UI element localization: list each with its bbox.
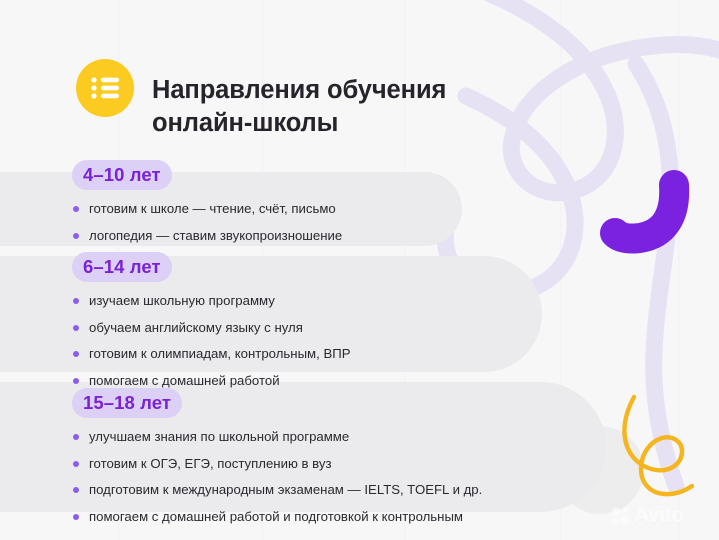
list-item-label: готовим к олимпиадам, контрольным, ВПР (89, 346, 351, 361)
page-title: Направления обучения онлайн-школы (152, 72, 446, 140)
bullet-dot-icon (73, 298, 79, 304)
avito-dots-icon (611, 506, 631, 526)
age-group-1: 6–14 лет изучаем школьную программу обуч… (72, 252, 351, 392)
list-item-label: изучаем школьную программу (89, 293, 275, 308)
list-item: изучаем школьную программу (72, 291, 351, 312)
bullet-dot-icon (73, 325, 79, 331)
list-item: логопедия — ставим звукопроизношение (72, 226, 342, 247)
bullet-dot-icon (73, 378, 79, 384)
list-item-label: обучаем английскому языку с нуля (89, 320, 303, 335)
bullet-dot-icon (73, 351, 79, 357)
list-item: готовим к ОГЭ, ЕГЭ, поступлению в вуз (72, 454, 482, 475)
list-item-label: готовим к ОГЭ, ЕГЭ, поступлению в вуз (89, 456, 332, 471)
list-item-label: помогаем с домашней работой и подготовко… (89, 509, 463, 524)
age-badge-0: 4–10 лет (72, 160, 172, 190)
list-bullets-icon (76, 59, 134, 117)
age-group-2: 15–18 лет улучшаем знания по школьной пр… (72, 388, 482, 528)
age-badge-2: 15–18 лет (72, 388, 182, 418)
list-item-label: готовим к школе — чтение, счёт, письмо (89, 201, 336, 216)
poster-content: Направления обучения онлайн-школы 4–10 л… (0, 0, 719, 540)
avito-watermark: Avito (611, 505, 684, 526)
benefit-list-0: готовим к школе — чтение, счёт, письмо л… (72, 199, 342, 246)
list-item: помогаем с домашней работой и подготовко… (72, 507, 482, 528)
list-item-label: логопедия — ставим звукопроизношение (89, 228, 342, 243)
bullet-dot-icon (73, 487, 79, 493)
bullet-dot-icon (73, 233, 79, 239)
age-group-0: 4–10 лет готовим к школе — чтение, счёт,… (72, 160, 342, 246)
bullet-dot-icon (73, 434, 79, 440)
poster-canvas: Направления обучения онлайн-школы 4–10 л… (0, 0, 719, 540)
benefit-list-2: улучшаем знания по школьной программе го… (72, 427, 482, 527)
list-item-label: подготовим к международным экзаменам — I… (89, 482, 482, 497)
list-item: готовим к школе — чтение, счёт, письмо (72, 199, 342, 220)
benefit-list-1: изучаем школьную программу обучаем англи… (72, 291, 351, 391)
bullet-dot-icon (73, 514, 79, 520)
list-item: обучаем английскому языку с нуля (72, 318, 351, 339)
list-item: улучшаем знания по школьной программе (72, 427, 482, 448)
list-item-label: помогаем с домашней работой (89, 373, 280, 388)
list-item: готовим к олимпиадам, контрольным, ВПР (72, 344, 351, 365)
bullet-dot-icon (73, 206, 79, 212)
list-item: подготовим к международным экзаменам — I… (72, 480, 482, 501)
avito-watermark-label: Avito (634, 505, 684, 526)
bullet-dot-icon (73, 461, 79, 467)
age-badge-1: 6–14 лет (72, 252, 172, 282)
poster-header: Направления обучения онлайн-школы (76, 55, 446, 157)
list-item-label: улучшаем знания по школьной программе (89, 429, 349, 444)
